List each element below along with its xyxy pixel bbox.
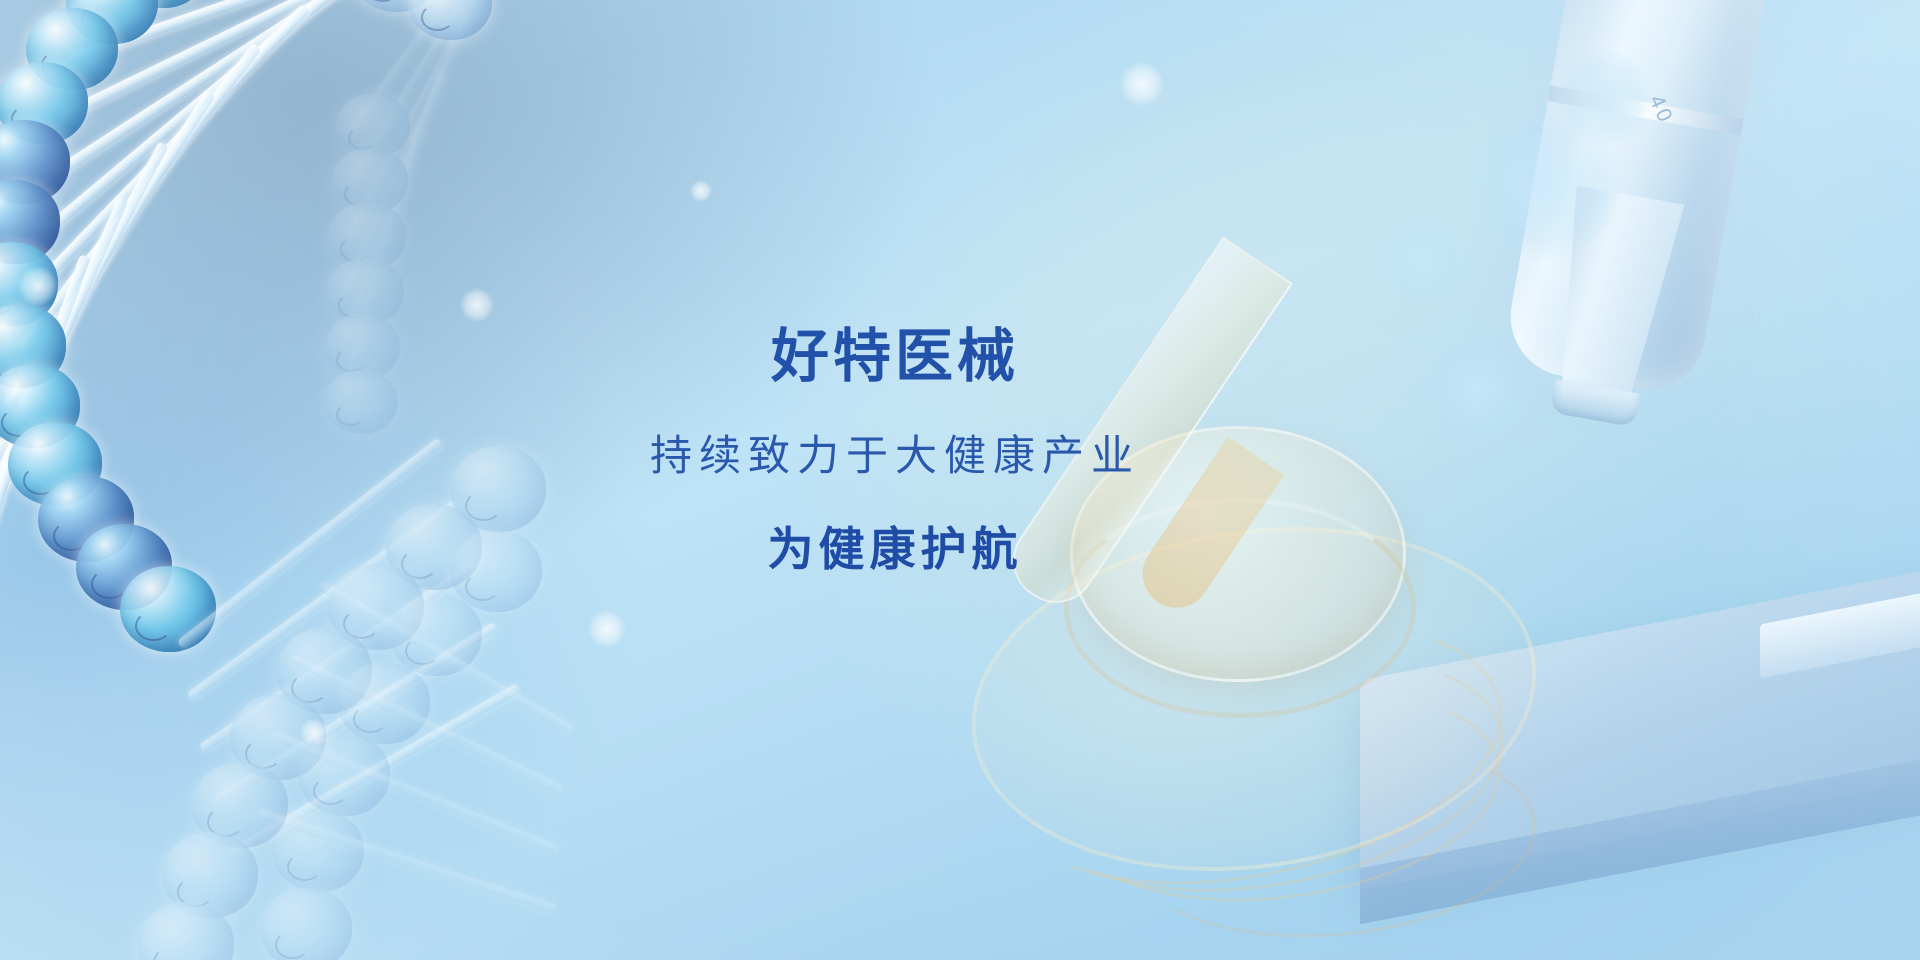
banner-tagline: 为健康护航 [0,524,1790,575]
hero-banner: 40 好特医械 持续致力于大健康产业 为健康护航 [0,0,1920,960]
banner-copy: 好特医械 持续致力于大健康产业 为健康护航 [0,326,1790,574]
page-title: 好特医械 [0,326,1790,387]
banner-subtitle: 持续致力于大健康产业 [0,433,1790,479]
